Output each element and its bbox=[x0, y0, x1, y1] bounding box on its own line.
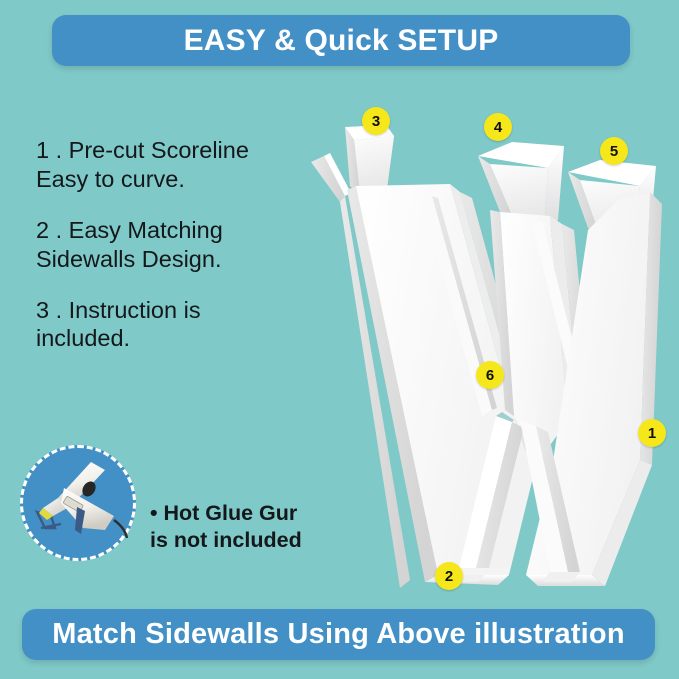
callout-badge-5-label: 5 bbox=[610, 143, 618, 160]
callout-badge-2-label: 2 bbox=[445, 568, 453, 585]
callout-badge-6: 6 bbox=[476, 361, 504, 389]
feature-item-3-line-1: 3 . Instruction is bbox=[36, 296, 326, 325]
feature-list: 1 . Pre-cut Scoreline Easy to curve. 2 .… bbox=[36, 136, 326, 375]
callout-badge-2: 2 bbox=[435, 562, 463, 590]
feature-item-1-line-1: 1 . Pre-cut Scoreline bbox=[36, 136, 326, 165]
callout-badge-1: 1 bbox=[638, 419, 666, 447]
feature-item-3-line-2: included. bbox=[36, 324, 326, 353]
glue-gun-badge bbox=[20, 445, 136, 561]
hot-glue-gun-icon bbox=[31, 458, 131, 554]
callout-badge-4: 4 bbox=[484, 113, 512, 141]
feature-item-3: 3 . Instruction is included. bbox=[36, 296, 326, 354]
top-banner-label: EASY & Quick SETUP bbox=[184, 24, 499, 58]
top-banner: EASY & Quick SETUP bbox=[52, 15, 630, 66]
callout-badge-3: 3 bbox=[362, 107, 390, 135]
callout-badge-5: 5 bbox=[600, 137, 628, 165]
callout-badge-4-label: 4 bbox=[494, 119, 502, 136]
callout-badge-1-label: 1 bbox=[648, 425, 656, 442]
bottom-banner-label: Match Sidewalls Using Above illustration bbox=[52, 618, 625, 651]
feature-item-2: 2 . Easy Matching Sidewalls Design. bbox=[36, 216, 326, 274]
feature-item-1: 1 . Pre-cut Scoreline Easy to curve. bbox=[36, 136, 326, 194]
feature-item-2-line-1: 2 . Easy Matching bbox=[36, 216, 326, 245]
feature-item-1-line-2: Easy to curve. bbox=[36, 165, 326, 194]
bottom-banner: Match Sidewalls Using Above illustration bbox=[22, 609, 655, 660]
promo-image-canvas: EASY & Quick SETUP 1 . Pre-cut Scoreline… bbox=[0, 0, 679, 679]
callout-badge-3-label: 3 bbox=[372, 113, 380, 130]
letter-w-artwork bbox=[300, 120, 679, 590]
feature-item-2-line-2: Sidewalls Design. bbox=[36, 245, 326, 274]
callout-badge-6-label: 6 bbox=[486, 367, 494, 384]
